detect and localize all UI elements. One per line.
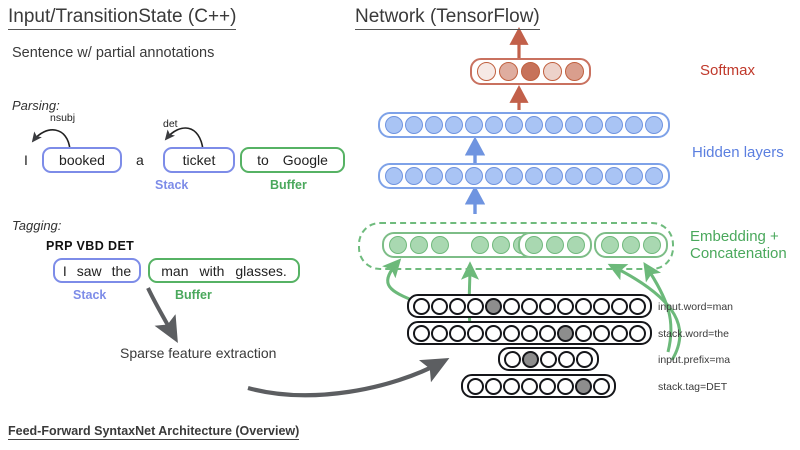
feature-unit-4-5 xyxy=(539,378,556,395)
feature-unit-3-2 xyxy=(522,351,539,368)
hidden-layer-1[interactable] xyxy=(378,163,670,189)
feature-row-1[interactable] xyxy=(407,294,652,318)
hidden-unit-2-7 xyxy=(505,167,523,185)
hidden-unit-2-8 xyxy=(525,167,543,185)
feature-unit-2-3 xyxy=(449,325,466,342)
hidden-layer-2[interactable] xyxy=(378,112,670,138)
softmax-layer[interactable] xyxy=(470,58,591,85)
feature-unit-4-2 xyxy=(485,378,502,395)
feature-unit-1-5 xyxy=(485,298,502,315)
hidden-unit-1-1 xyxy=(385,116,403,134)
feature-unit-4-1 xyxy=(467,378,484,395)
embedding-unit-1-1 xyxy=(389,236,407,254)
softmax-unit-1 xyxy=(477,62,496,81)
hidden-unit-1-4 xyxy=(445,116,463,134)
tagging-stack-word-I: I xyxy=(63,263,67,279)
figure-caption: Feed-Forward SyntaxNet Architecture (Ove… xyxy=(8,424,299,440)
hidden-unit-2-6 xyxy=(485,167,503,185)
feature-unit-2-7 xyxy=(521,325,538,342)
hidden-unit-1-6 xyxy=(485,116,503,134)
embedding-unit-1-3 xyxy=(431,236,449,254)
tagging-buffer-word-glasses: glasses. xyxy=(235,263,286,279)
parsing-section-label: Parsing: xyxy=(12,98,60,113)
hidden-unit-1-14 xyxy=(645,116,663,134)
feature-row-3[interactable] xyxy=(498,347,599,371)
feature-unit-1-7 xyxy=(521,298,538,315)
embedding-group-2[interactable] xyxy=(518,232,592,258)
hidden-unit-2-9 xyxy=(545,167,563,185)
hidden-unit-1-10 xyxy=(565,116,583,134)
feature-label-4: stack.tag=DET xyxy=(658,381,727,393)
feature-unit-3-5 xyxy=(576,351,593,368)
hidden-unit-1-11 xyxy=(585,116,603,134)
embedding-group-3[interactable] xyxy=(594,232,668,258)
feature-unit-4-8 xyxy=(593,378,610,395)
embedding-unit-1-5 xyxy=(492,236,510,254)
tagging-stack-label: Stack xyxy=(73,288,106,302)
softmax-unit-2 xyxy=(499,62,518,81)
hidden-unit-1-3 xyxy=(425,116,443,134)
softmax-unit-3 xyxy=(521,62,540,81)
arrow-sparse-to-features xyxy=(248,362,442,395)
feature-unit-1-8 xyxy=(539,298,556,315)
left-subtitle: Sentence w/ partial annotations xyxy=(12,45,214,61)
tagging-buffer-word-with: with xyxy=(199,263,224,279)
embedding-unit-2-1 xyxy=(525,236,543,254)
softmax-side-label: Softmax xyxy=(700,62,755,79)
parsing-buffer-word-to: to xyxy=(257,152,269,168)
hidden-unit-1-13 xyxy=(625,116,643,134)
tagging-pos-tags: PRP VBD DET xyxy=(46,239,134,253)
feature-unit-3-4 xyxy=(558,351,575,368)
embedding-side-label: Embedding + Concatenation xyxy=(690,228,787,263)
feature-unit-1-9 xyxy=(557,298,574,315)
feature-unit-4-4 xyxy=(521,378,538,395)
hidden-unit-2-13 xyxy=(625,167,643,185)
left-section-title: Input/TransitionState (C++) xyxy=(8,6,236,30)
parsing-stack-word-ticket: ticket xyxy=(183,152,216,168)
feature-unit-2-2 xyxy=(431,325,448,342)
feature-unit-4-6 xyxy=(557,378,574,395)
feature-unit-1-1 xyxy=(413,298,430,315)
feature-unit-1-10 xyxy=(575,298,592,315)
feature-unit-2-5 xyxy=(485,325,502,342)
hidden-unit-1-5 xyxy=(465,116,483,134)
embedding-unit-3-1 xyxy=(601,236,619,254)
hidden-unit-1-12 xyxy=(605,116,623,134)
feature-unit-1-3 xyxy=(449,298,466,315)
hidden-unit-1-9 xyxy=(545,116,563,134)
arc-label-det: det xyxy=(163,118,178,130)
feature-unit-1-11 xyxy=(593,298,610,315)
tagging-stack-box[interactable]: I saw the xyxy=(53,258,141,283)
hidden-unit-2-1 xyxy=(385,167,403,185)
feature-label-1: input.word=man xyxy=(658,301,733,313)
hidden-unit-2-4 xyxy=(445,167,463,185)
arc-label-nsubj: nsubj xyxy=(50,112,75,124)
hidden-unit-2-14 xyxy=(645,167,663,185)
feature-label-3: input.prefix=ma xyxy=(658,354,730,366)
feature-label-2: stack.word=the xyxy=(658,328,729,340)
feature-unit-2-6 xyxy=(503,325,520,342)
embedding-unit-2-2 xyxy=(546,236,564,254)
parsing-stack-label: Stack xyxy=(155,178,188,192)
embedding-unit-3-2 xyxy=(622,236,640,254)
parsing-buffer-box[interactable]: to Google xyxy=(240,147,345,173)
feature-unit-1-6 xyxy=(503,298,520,315)
tagging-buffer-word-man: man xyxy=(161,263,188,279)
feature-unit-2-8 xyxy=(539,325,556,342)
parsing-stack-word-booked: booked xyxy=(59,152,105,168)
feature-unit-2-1 xyxy=(413,325,430,342)
softmax-unit-5 xyxy=(565,62,584,81)
embedding-unit-3-3 xyxy=(643,236,661,254)
hidden-unit-2-11 xyxy=(585,167,603,185)
hidden-unit-1-8 xyxy=(525,116,543,134)
tagging-stack-word-the: the xyxy=(112,263,131,279)
feature-unit-1-2 xyxy=(431,298,448,315)
feature-unit-1-4 xyxy=(467,298,484,315)
feature-unit-2-13 xyxy=(629,325,646,342)
feature-unit-3-1 xyxy=(504,351,521,368)
feature-unit-2-12 xyxy=(611,325,628,342)
hidden-side-label: Hidden layers xyxy=(692,144,784,161)
hidden-unit-2-2 xyxy=(405,167,423,185)
feature-unit-4-3 xyxy=(503,378,520,395)
embedding-side-label-line2: Concatenation xyxy=(690,245,787,262)
parsing-token-I: I xyxy=(24,152,28,168)
sparse-extraction-note: Sparse feature extraction xyxy=(120,345,276,361)
feature-unit-1-12 xyxy=(611,298,628,315)
feature-unit-2-10 xyxy=(575,325,592,342)
parsing-token-a: a xyxy=(136,152,144,168)
parsing-buffer-word-google: Google xyxy=(283,152,328,168)
feature-unit-2-9 xyxy=(557,325,574,342)
tagging-buffer-box[interactable]: man with glasses. xyxy=(148,258,300,283)
tagging-buffer-label: Buffer xyxy=(175,288,212,302)
feature-unit-4-7 xyxy=(575,378,592,395)
arrow-to-sparse-extraction xyxy=(148,288,174,336)
embedding-unit-1-2 xyxy=(410,236,428,254)
softmax-unit-4 xyxy=(543,62,562,81)
parsing-stack-box-2[interactable]: ticket xyxy=(163,147,235,173)
tagging-stack-word-saw: saw xyxy=(77,263,102,279)
embedding-group-1[interactable] xyxy=(382,232,538,258)
hidden-unit-2-5 xyxy=(465,167,483,185)
embedding-side-label-line1: Embedding + xyxy=(690,228,787,245)
hidden-unit-2-10 xyxy=(565,167,583,185)
feature-unit-3-3 xyxy=(540,351,557,368)
hidden-unit-2-3 xyxy=(425,167,443,185)
right-section-title: Network (TensorFlow) xyxy=(355,6,540,30)
hidden-unit-2-12 xyxy=(605,167,623,185)
feature-row-2[interactable] xyxy=(407,321,652,345)
embedding-unit-1-4 xyxy=(471,236,489,254)
parsing-stack-box-1[interactable]: booked xyxy=(42,147,122,173)
parsing-buffer-label: Buffer xyxy=(270,178,307,192)
tagging-section-label: Tagging: xyxy=(12,218,61,233)
feature-unit-2-4 xyxy=(467,325,484,342)
feature-unit-1-13 xyxy=(629,298,646,315)
feature-row-4[interactable] xyxy=(461,374,616,398)
hidden-unit-1-7 xyxy=(505,116,523,134)
embedding-unit-2-3 xyxy=(567,236,585,254)
feature-unit-2-11 xyxy=(593,325,610,342)
hidden-unit-1-2 xyxy=(405,116,423,134)
